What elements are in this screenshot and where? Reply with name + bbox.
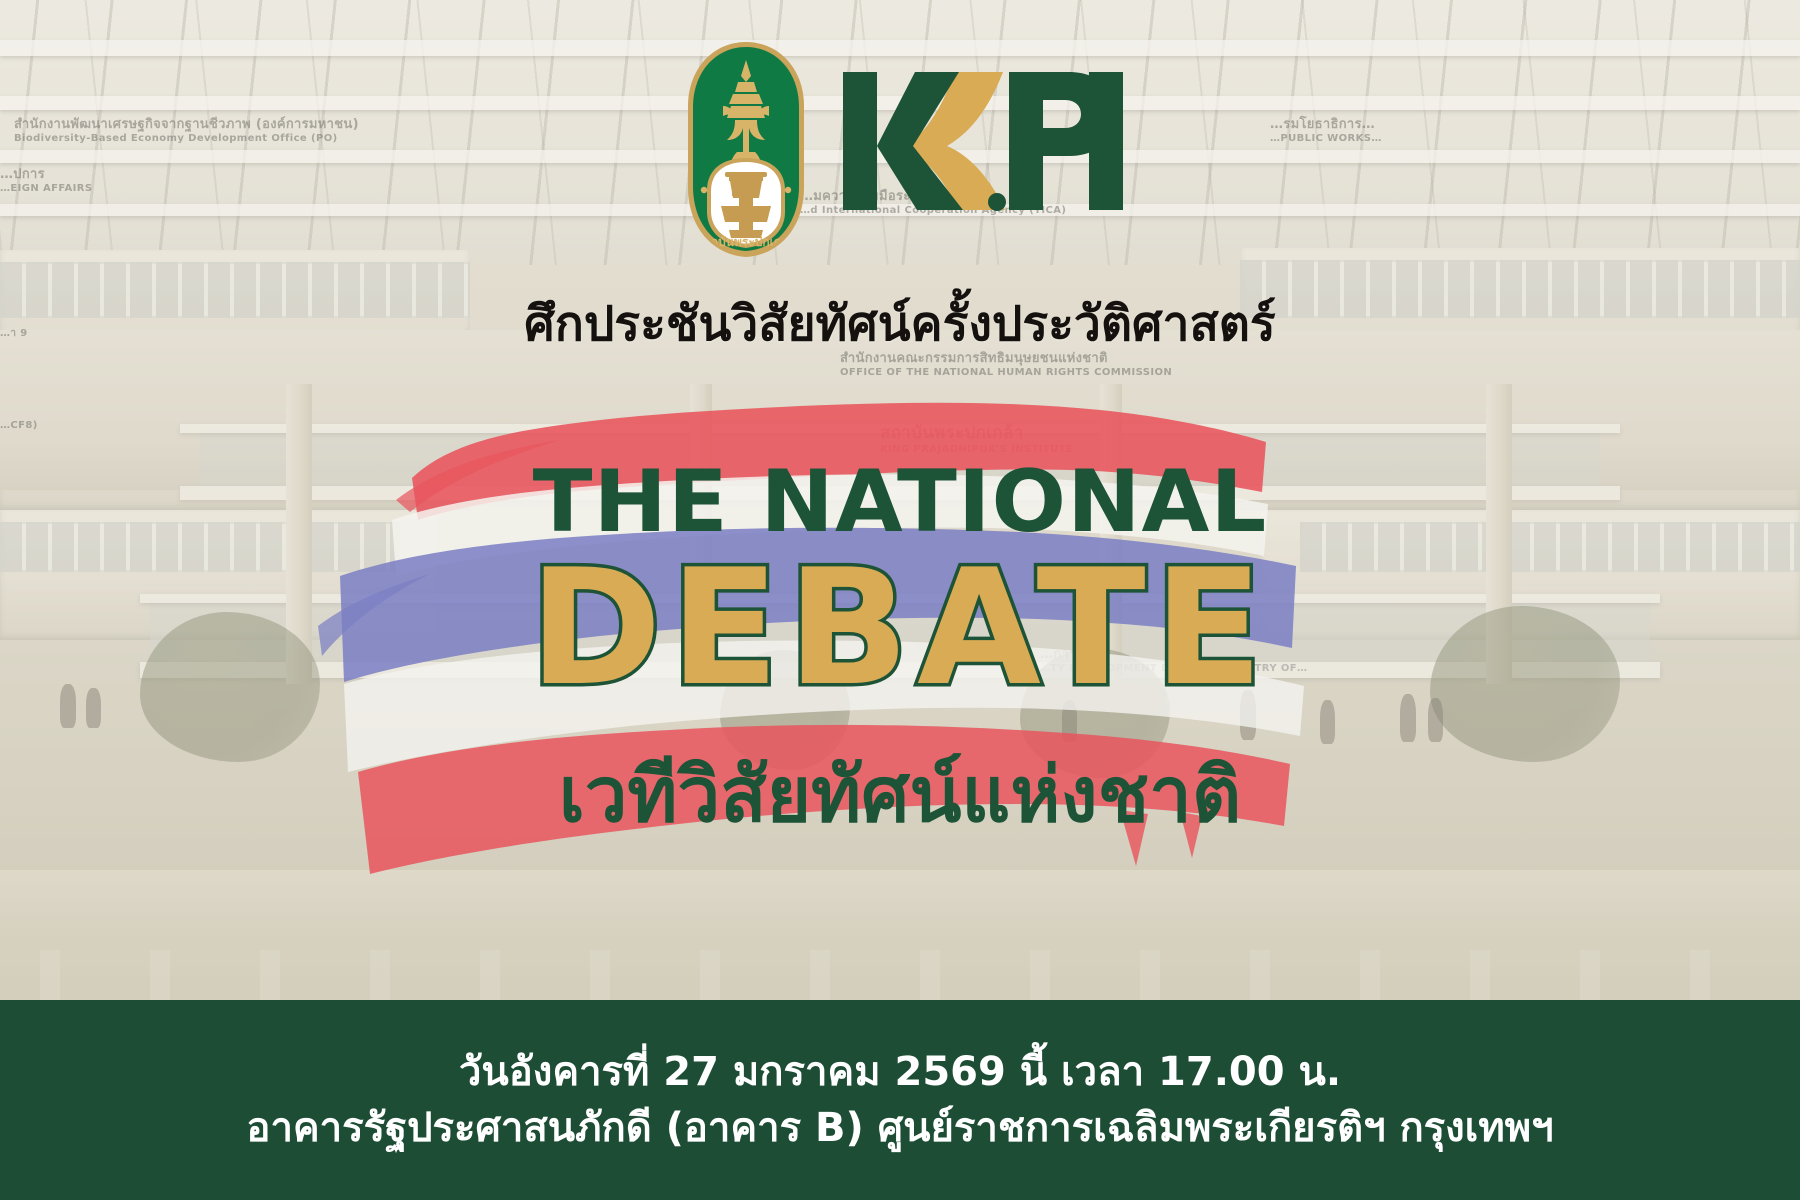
emblem-dot-left [701,187,707,193]
kpi-wordmark [837,64,1127,234]
page-headline-thai: ศึกประชันวิสัยทัศน์ครั้งประวัติศาสตร์ [0,286,1800,362]
poster-root: สำนักงานพัฒนาเศรษฐกิจจากฐานชีวภาพ (องค์ก… [0,0,1800,1200]
emblem-dot-right [785,187,791,193]
event-venue: อาคารรัฐประศาสนภักดี (อาคาร B) ศูนย์ราชก… [246,1103,1553,1153]
king-prajadhipoks-institute-emblem-icon: สถาบันพระปกเกล้า [673,40,819,258]
kpi-logo-lockup: สถาบันพระปกเกล้า [0,40,1800,258]
event-date-time: วันอังคารที่ 27 มกราคม 2569 นี้ เวลา 17.… [459,1047,1341,1097]
subtitle-thai: เวทีวิสัยทัศน์แห่งชาติ [0,735,1800,855]
event-details-bar: วันอังคารที่ 27 มกราคม 2569 นี้ เวลา 17.… [0,1000,1800,1200]
title-line-debate: DEBATE [0,534,1800,721]
